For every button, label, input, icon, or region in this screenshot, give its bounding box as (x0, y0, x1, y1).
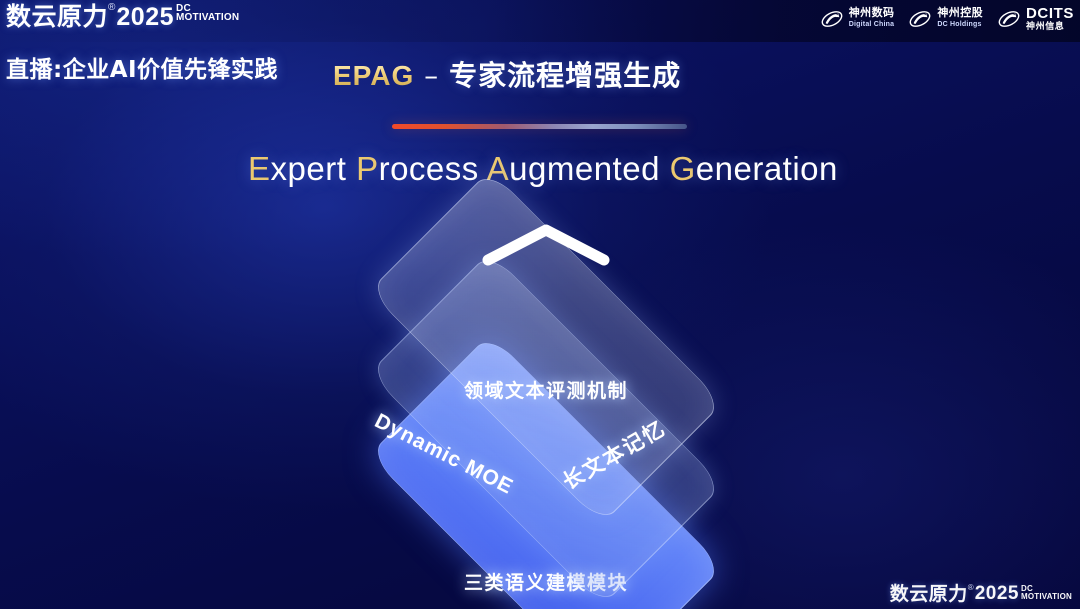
layered-architecture-diagram: 三类语义建模模块 领域文本评测机制 Dynamic MOE 长文本记忆 (296, 228, 796, 578)
brand-logo: 数云原力 ® 2025 DC MOTIVATION (6, 2, 239, 32)
live-stream-label: 直播:企业AI价值先锋实践 (6, 50, 278, 84)
title-chinese: 专家流程增强生成 (449, 59, 681, 92)
title-dash: – (414, 59, 449, 92)
brand-dc-line2: MOTIVATION (176, 13, 239, 22)
subtitle-rest-expert: xpert (271, 150, 347, 187)
title-acronym: EPAG (333, 60, 414, 91)
partner-logo-digital-china: 神州数码 Digital China (820, 8, 895, 30)
partner-name-en: DCITS (1026, 6, 1074, 21)
watermark-dc-line2: MOTIVATION (1021, 593, 1072, 601)
brand-year: 2025 (116, 2, 174, 32)
brand-name-cn: 数云原力 (6, 2, 108, 32)
partner-text: DCITS 神州信息 (1026, 6, 1074, 32)
partner-logo-dc-holdings: 神州控股 DC Holdings (908, 8, 983, 30)
footer-watermark: 数云原力 ® 2025 DC MOTIVATION (890, 583, 1072, 605)
layer-plate (369, 170, 724, 525)
diagram-layer-top[interactable]: 领域文本评测机制 (381, 182, 711, 512)
partner-name-cn: 神州数码 (849, 8, 895, 18)
partner-name-en: DC Holdings (937, 20, 983, 30)
subtitle-cap-e: E (248, 150, 271, 187)
partner-name-cn: 神州信息 (1026, 22, 1074, 32)
swirl-logo-icon (997, 8, 1021, 30)
partner-name-en: Digital China (849, 20, 895, 30)
partner-logo-group: 神州数码 Digital China 神州控股 DC Holdings (820, 6, 1074, 32)
subtitle-rest-generation: eneration (696, 150, 838, 187)
partner-text: 神州控股 DC Holdings (937, 8, 983, 30)
watermark-dc-motivation: DC MOTIVATION (1021, 585, 1072, 601)
partner-text: 神州数码 Digital China (849, 8, 895, 30)
partner-logo-dcits: DCITS 神州信息 (997, 6, 1074, 32)
brand-dc-motivation: DC MOTIVATION (176, 4, 239, 22)
brand-registered-mark: ® (108, 2, 115, 13)
watermark-year: 2025 (975, 583, 1019, 605)
watermark-name-cn: 数云原力 (890, 583, 968, 605)
slide-canvas: 数云原力 ® 2025 DC MOTIVATION 直播:企业AI价值先锋实践 … (0, 0, 1080, 609)
swirl-logo-icon (820, 8, 844, 30)
partner-name-cn: 神州控股 (937, 8, 983, 18)
swirl-logo-icon (908, 8, 932, 30)
subtitle-cap-p: P (356, 150, 379, 187)
page-title: EPAG – 专家流程增强生成 (333, 54, 681, 94)
watermark-registered-mark: ® (968, 583, 974, 592)
gradient-divider (392, 124, 687, 129)
